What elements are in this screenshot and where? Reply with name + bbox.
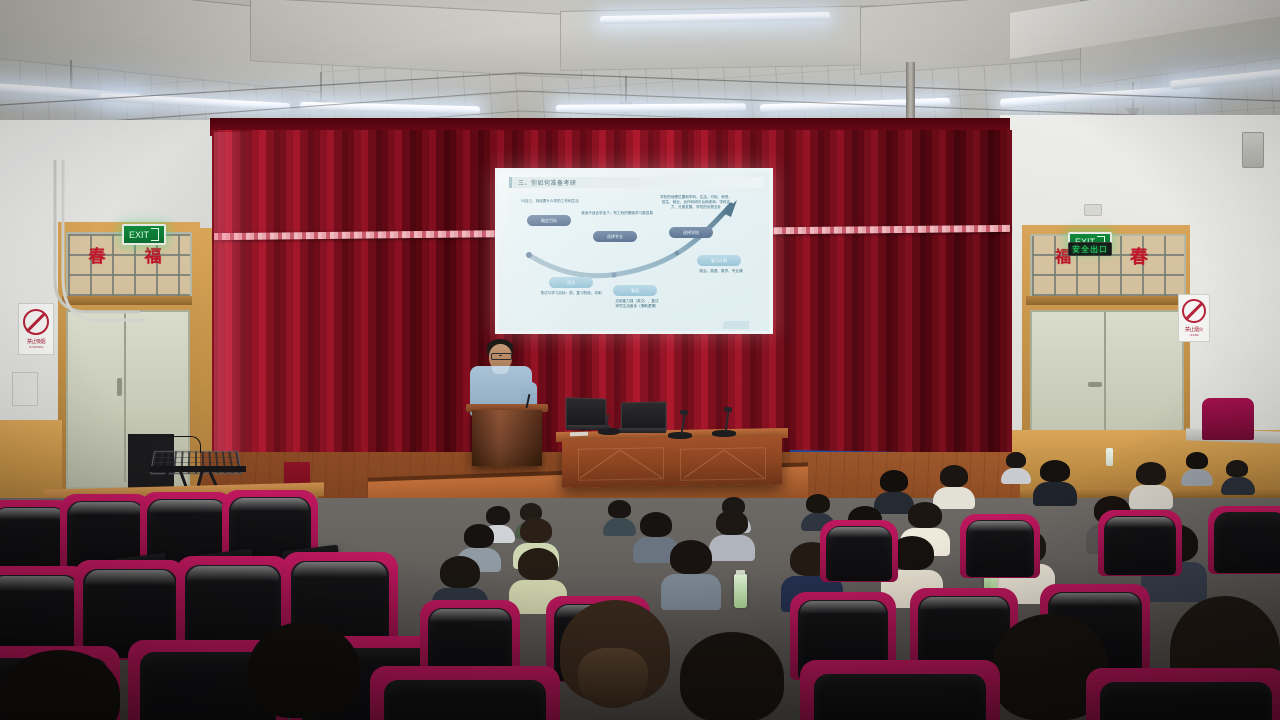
seat-foreground[interactable] [1086,668,1280,720]
slide-title: 三、你如何准备考研 [518,178,577,187]
node-pill-3[interactable]: 选择学校 [669,227,713,238]
node-caption-3: 学校的地理位置和学科、生活、可玩、师资、招生、就业、合作科研平台和老师、学科实力… [659,195,733,211]
audience-member [1040,460,1077,506]
right-door-handle[interactable] [1088,382,1102,387]
no-smoking-sign-right: 禁止烟火 NO FIRE [1178,294,1210,342]
node-caption-4: 政治、英语、数学、专业课 [691,269,751,274]
node-caption-6: 应用能力强（英文）、复试 研究生活面谈（清晰逻辑） [605,299,669,309]
node-label-6: 复试 [631,288,639,294]
seat-occupied[interactable] [1098,510,1182,576]
window-decoration-right-2: 春 [1128,248,1150,266]
right-wall-bottle [1106,448,1113,466]
curtain-left-highlight [214,132,254,468]
right-side-chair [1202,398,1254,440]
node-label-3: 选择学校 [683,230,699,236]
audience-member [670,540,721,610]
mic-1-base [598,428,620,435]
audience-member [716,510,755,561]
led-exit-sign: 安全出口 [1068,242,1112,256]
node-caption-1: 问自己，到底要什么样的工作和生活 [517,199,583,204]
head-table-inlay [578,448,768,480]
presenter-collar [492,366,509,374]
seat-occupied[interactable] [1208,506,1280,574]
audience-member [608,500,636,536]
node-label-4: 复习计划 [711,258,727,264]
seat-foreground[interactable] [800,660,1000,720]
projection-screen: 三、你如何准备考研 [495,168,773,334]
left-wall-conduit [30,160,150,460]
seat-occupied[interactable] [820,520,898,582]
laptop-2-base[interactable] [618,428,666,433]
node-caption-2: 我适不适合学这个、有工科的基础学习更容易 [581,211,653,216]
audience-member-foreground [680,632,784,720]
node-label-5: 初试 [567,280,575,286]
node-caption-5: 笔试与学习目标：前、复习阶段、冲刺 [539,291,603,296]
mic-2-capsule [680,409,689,415]
audience-member [1136,462,1173,509]
audience-member [1226,460,1255,495]
node-pill-5[interactable]: 初试 [549,277,593,288]
no-smoking-caption-right: 禁止烟火 [1185,326,1203,333]
slide-body: 问自己，到底要什么样的工作和生活 确定目标 我适不适合学这个、有工科的基础学习更… [509,193,755,321]
podium-shadow [472,410,542,466]
presenter-glasses-bridge [499,355,502,356]
table-paper [570,432,588,437]
water-bottle[interactable] [734,574,747,608]
node-label-1: 确定目标 [541,218,557,224]
exit-door-icon [151,228,159,241]
right-wall-sensor [1084,204,1102,216]
no-smoking-icon [1182,299,1206,323]
audience-member-foreground [560,600,670,702]
water-bottle-cap [736,570,745,575]
led-exit-label: 安全出口 [1072,244,1108,255]
slide-title-bar: 三、你如何准备考研 [509,177,764,188]
node-pill-4[interactable]: 复习计划 [697,255,741,266]
audience-member [1186,452,1213,486]
mic-3-capsule [724,406,733,412]
audience-member [1006,452,1031,484]
no-smoking-subcaption-right: NO FIRE [1190,333,1199,337]
node-pill-1[interactable]: 确定目标 [527,215,571,226]
auditorium-scene: 春 福 EXIT 禁止吸烟 NO SMOKING 福 春 EXIT 安全出口 [0,0,1280,720]
node-pill-2[interactable]: 选择专业 [593,231,637,242]
node-label-2: 选择专业 [607,234,623,240]
mixer-cable [168,436,201,453]
seat-occupied[interactable] [960,514,1040,578]
seat-foreground[interactable] [370,666,560,720]
audience-member-foreground [0,650,120,720]
slide: 三、你如何准备考研 [499,171,769,331]
slide-corner-accent [723,321,749,329]
right-door-lintel [1026,296,1186,305]
node-pill-6[interactable]: 复试 [613,285,657,296]
right-wall-speaker [1242,132,1264,168]
audience-member-foreground [248,622,360,718]
